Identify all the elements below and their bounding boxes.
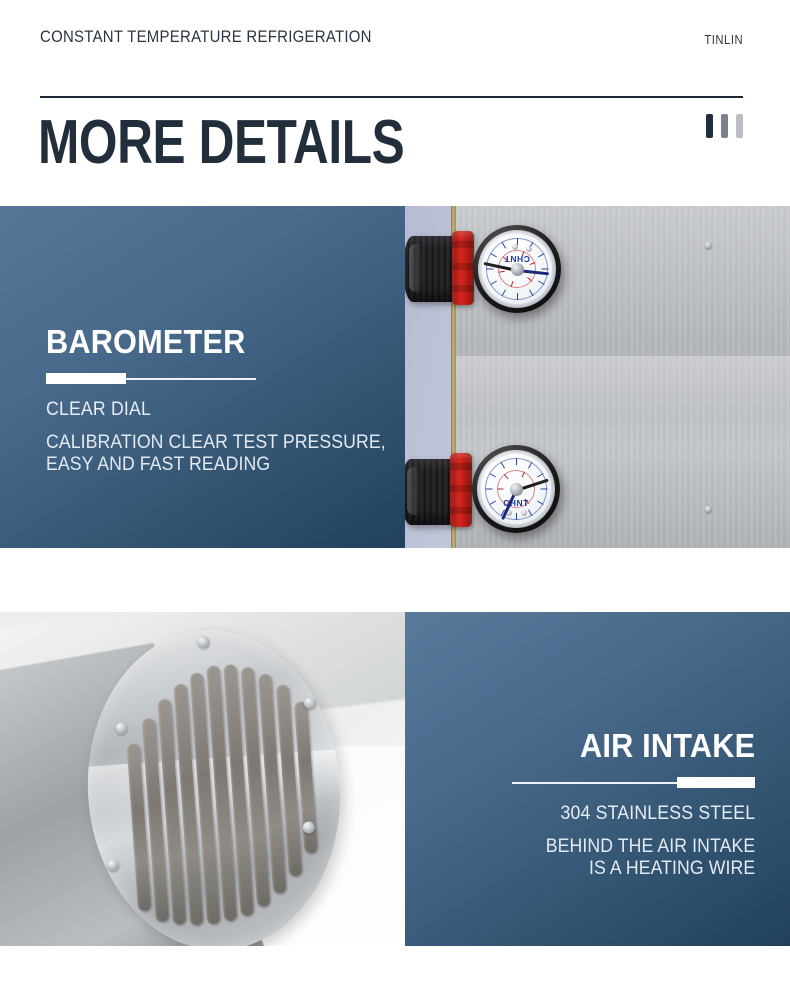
gauge-needle-hub xyxy=(511,263,524,276)
louver-slot-group xyxy=(121,646,320,934)
underline-thin-segment xyxy=(124,378,256,380)
page-header: CONSTANT TEMPERATURE REFRIGERATION TINLI… xyxy=(0,0,790,206)
gauge-needle-hub xyxy=(510,483,523,496)
gauge-brand-label: CHNT xyxy=(481,498,551,508)
underline-thick-segment xyxy=(677,777,755,788)
accent-bar-2 xyxy=(721,114,728,138)
page-title: MORE DETAILS xyxy=(38,108,404,178)
barometer-text-pane: BAROMETER CLEAR DIAL CALIBRATION CLEAR T… xyxy=(0,206,405,548)
collar-groove xyxy=(450,485,472,492)
air-intake-description: BEHIND THE AIR INTAKE IS A HEATING WIRE xyxy=(546,836,755,880)
gauge-tick xyxy=(542,269,549,270)
barometer-description: CALIBRATION CLEAR TEST PRESSURE, EASY AN… xyxy=(46,432,386,476)
flange-screw xyxy=(304,697,317,710)
gauge-face-screw xyxy=(521,510,527,516)
red-collar-upper xyxy=(452,231,474,305)
gauge-tick xyxy=(516,513,517,520)
air-intake-subtitle: 304 STAINLESS STEEL xyxy=(546,802,755,826)
collar-groove xyxy=(452,285,474,292)
barometer-heading-underline xyxy=(46,372,405,386)
gauge-tick xyxy=(486,489,493,490)
red-collar-lower xyxy=(450,453,472,527)
air-intake-scene xyxy=(0,612,405,946)
air-intake-description-line-1: BEHIND THE AIR INTAKE xyxy=(546,836,755,858)
gauge-face-screw xyxy=(512,244,518,250)
barometer-subtitle: CLEAR DIAL xyxy=(46,398,386,422)
barometer-text-group: BAROMETER CLEAR DIAL CALIBRATION CLEAR T… xyxy=(46,324,405,476)
collar-groove xyxy=(452,263,474,270)
air-intake-heading-underline xyxy=(530,776,755,790)
feature-block-barometer: BAROMETER CLEAR DIAL CALIBRATION CLEAR T… xyxy=(0,206,790,548)
collar-groove xyxy=(452,241,474,248)
feature-block-air-intake: AIR INTAKE 304 STAINLESS STEEL BEHIND TH… xyxy=(0,612,790,946)
flange-screw xyxy=(107,859,120,872)
air-intake-text-group: AIR INTAKE 304 STAINLESS STEEL BEHIND TH… xyxy=(530,728,755,880)
barometer-heading: BAROMETER xyxy=(46,324,386,360)
decorative-bars xyxy=(706,114,743,138)
gauge-face: CHNT xyxy=(482,234,552,304)
air-intake-description-line-2: IS A HEATING WIRE xyxy=(546,858,755,880)
accent-bar-1 xyxy=(706,114,713,138)
accent-bar-3 xyxy=(736,114,743,138)
underline-thick-segment xyxy=(46,373,126,384)
gauge-tick xyxy=(541,489,548,490)
panel-screw xyxy=(705,506,712,513)
pressure-gauge-upper: CHNT xyxy=(473,225,561,313)
gauge-scene: CHNT xyxy=(405,206,790,548)
gauge-face-screw xyxy=(526,246,532,252)
panel-screw xyxy=(705,242,712,249)
gauge-tick xyxy=(516,458,517,465)
brand-name: TINLIN xyxy=(704,33,743,47)
underline-thin-segment xyxy=(512,782,679,784)
header-kicker: CONSTANT TEMPERATURE REFRIGERATION xyxy=(40,24,410,50)
air-intake-heading: AIR INTAKE xyxy=(546,728,755,764)
barometer-description-line-2: EASY AND FAST READING xyxy=(46,454,386,476)
gauge-tick-red xyxy=(498,489,504,490)
header-divider xyxy=(40,96,743,98)
collar-groove xyxy=(450,507,472,514)
flange-screw xyxy=(197,636,210,649)
barometer-description-line-1: CALIBRATION CLEAR TEST PRESSURE, xyxy=(46,432,386,454)
gauge-face: CHNT xyxy=(481,454,551,524)
pressure-gauge-photo: CHNT xyxy=(405,206,790,548)
air-intake-grille-photo xyxy=(0,612,405,946)
gauge-tick xyxy=(517,293,518,300)
pressure-gauge-lower: CHNT xyxy=(472,445,560,533)
air-intake-text-pane: AIR INTAKE 304 STAINLESS STEEL BEHIND TH… xyxy=(405,612,790,946)
collar-groove xyxy=(450,463,472,470)
gauge-tick xyxy=(487,269,494,270)
